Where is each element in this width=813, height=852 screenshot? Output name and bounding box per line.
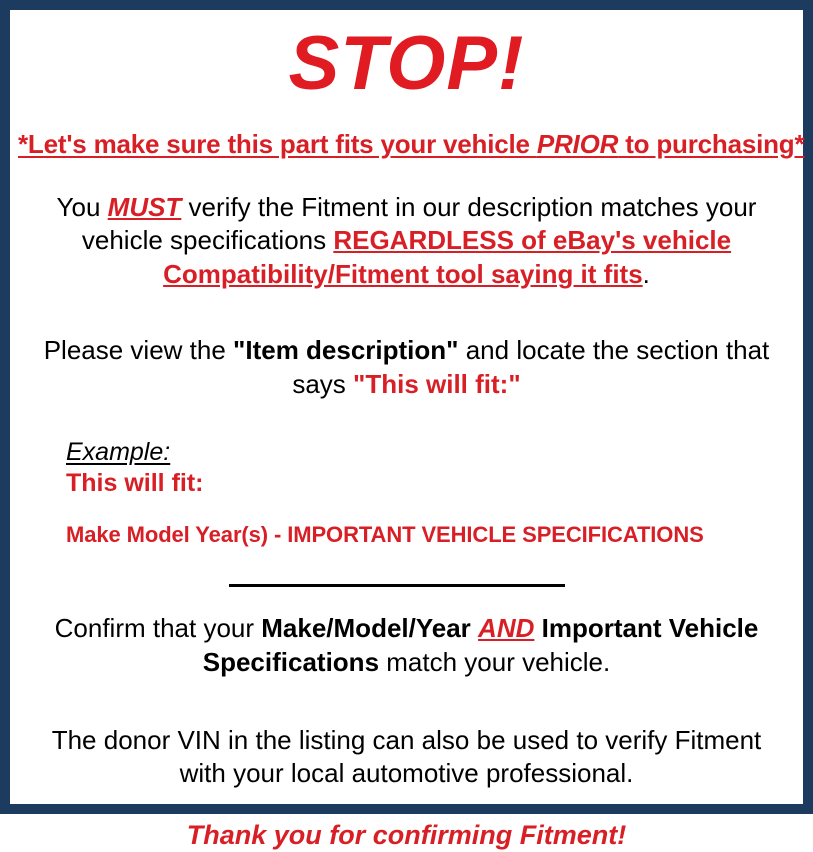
this-will-fit-quote: "This will fit:" (353, 369, 521, 399)
example-block: Example: This will fit: Make Model Year(… (18, 438, 795, 548)
subtitle-line: *Let's make sure this part fits your veh… (18, 130, 795, 159)
subtitle-text-after: to purchasing* (618, 129, 804, 159)
confirm-space-2 (534, 613, 541, 643)
must-emphasis: MUST (108, 192, 182, 222)
horizontal-divider (229, 584, 565, 587)
stop-heading: STOP! (18, 26, 795, 102)
must-text-3: . (643, 259, 650, 289)
paragraph-donor-vin: The donor VIN in the listing can also be… (18, 724, 795, 792)
paragraph-confirm: Confirm that your Make/Model/Year AND Im… (18, 612, 795, 680)
make-model-year-label: Make/Model/Year (261, 613, 471, 643)
view-text-1: Please view the (44, 335, 233, 365)
notice-content: STOP! *Let's make sure this part fits yo… (10, 10, 803, 804)
and-emphasis: AND (478, 613, 534, 643)
paragraph-item-description: Please view the "Item description" and l… (18, 334, 795, 402)
example-label: Example: (66, 438, 795, 466)
example-spec-line: Make Model Year(s) - IMPORTANT VEHICLE S… (66, 522, 795, 548)
divider-wrapper (18, 574, 795, 592)
confirm-text-2: match your vehicle. (379, 647, 610, 677)
thank-you-line: Thank you for confirming Fitment! (18, 819, 795, 851)
item-description-label: "Item description" (233, 335, 458, 365)
example-this-will-fit: This will fit: (66, 468, 795, 498)
paragraph-must-verify: You MUST verify the Fitment in our descr… (18, 191, 795, 292)
vin-line-2: with your local automotive professional. (180, 758, 634, 788)
confirm-text-1: Confirm that your (55, 613, 262, 643)
fitment-notice-card: STOP! *Let's make sure this part fits yo… (0, 0, 813, 814)
subtitle-text-before: *Let's make sure this part fits your veh… (18, 129, 537, 159)
must-text-1: You (57, 192, 108, 222)
subtitle-prior-emphasis: PRIOR (537, 129, 618, 159)
confirm-space-1 (471, 613, 478, 643)
vin-line-1: The donor VIN in the listing can also be… (52, 725, 762, 755)
